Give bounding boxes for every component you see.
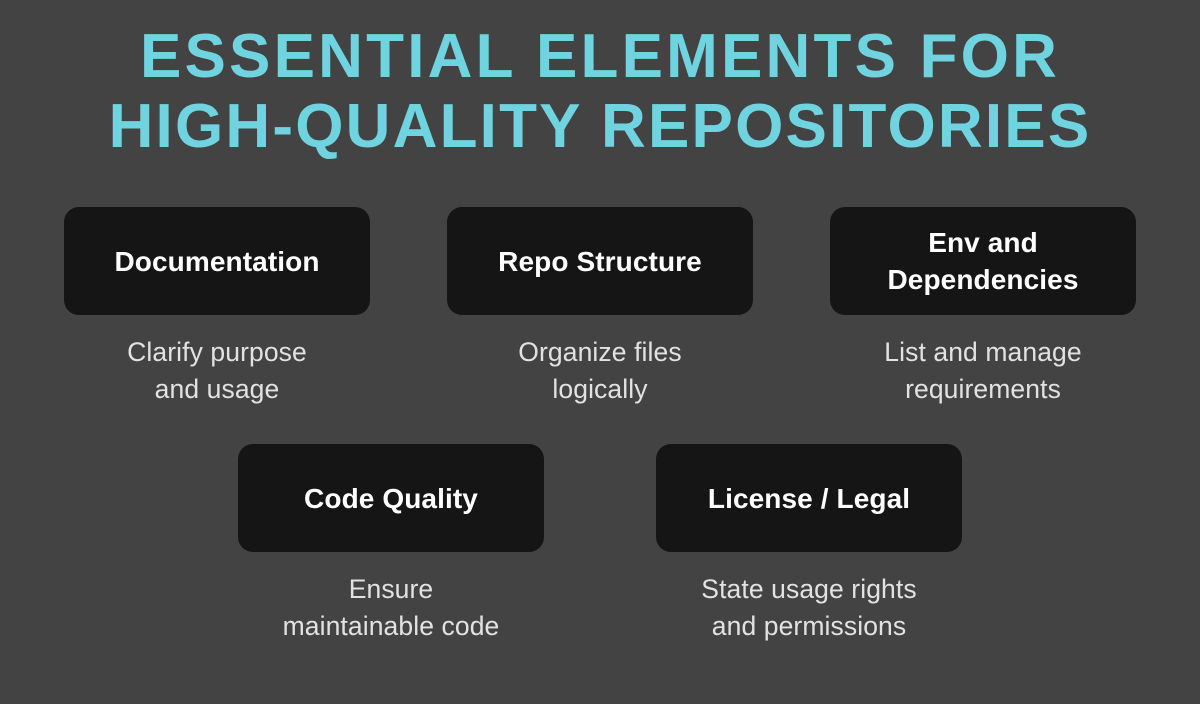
card-caption-code-quality: Ensure maintainable code	[283, 571, 500, 645]
card-caption-license-legal: State usage rights and permissions	[701, 571, 916, 645]
card-row-bottom: Code Quality Ensure maintainable code Li…	[0, 444, 1200, 645]
card-documentation[interactable]: Documentation	[64, 207, 370, 315]
card-row-top: Documentation Clarify purpose and usage …	[0, 207, 1200, 408]
card-title-repo-structure: Repo Structure	[498, 243, 702, 280]
card-cell-documentation: Documentation Clarify purpose and usage	[64, 207, 370, 408]
card-title-code-quality: Code Quality	[304, 480, 478, 517]
card-caption-repo-structure: Organize files logically	[518, 334, 681, 408]
card-cell-env-and-dependencies: Env and Dependencies List and manage req…	[830, 207, 1136, 408]
slide-canvas: Essential Elements for High-Quality Repo…	[0, 0, 1200, 704]
card-cell-code-quality: Code Quality Ensure maintainable code	[238, 444, 544, 645]
card-cell-license-legal: License / Legal State usage rights and p…	[656, 444, 962, 645]
page-title: Essential Elements for High-Quality Repo…	[0, 22, 1200, 162]
title-line-2: High-Quality Repositories	[0, 92, 1200, 162]
card-cell-repo-structure: Repo Structure Organize files logically	[447, 207, 753, 408]
title-line-1: Essential Elements for	[0, 22, 1200, 92]
card-env-and-dependencies[interactable]: Env and Dependencies	[830, 207, 1136, 315]
card-code-quality[interactable]: Code Quality	[238, 444, 544, 552]
card-caption-documentation: Clarify purpose and usage	[127, 334, 307, 408]
card-title-documentation: Documentation	[114, 243, 319, 280]
card-caption-env-and-dependencies: List and manage requirements	[884, 334, 1081, 408]
card-title-env-and-dependencies: Env and Dependencies	[846, 224, 1120, 298]
card-license-legal[interactable]: License / Legal	[656, 444, 962, 552]
card-title-license-legal: License / Legal	[708, 480, 910, 517]
card-grid: Documentation Clarify purpose and usage …	[0, 207, 1200, 645]
card-repo-structure[interactable]: Repo Structure	[447, 207, 753, 315]
